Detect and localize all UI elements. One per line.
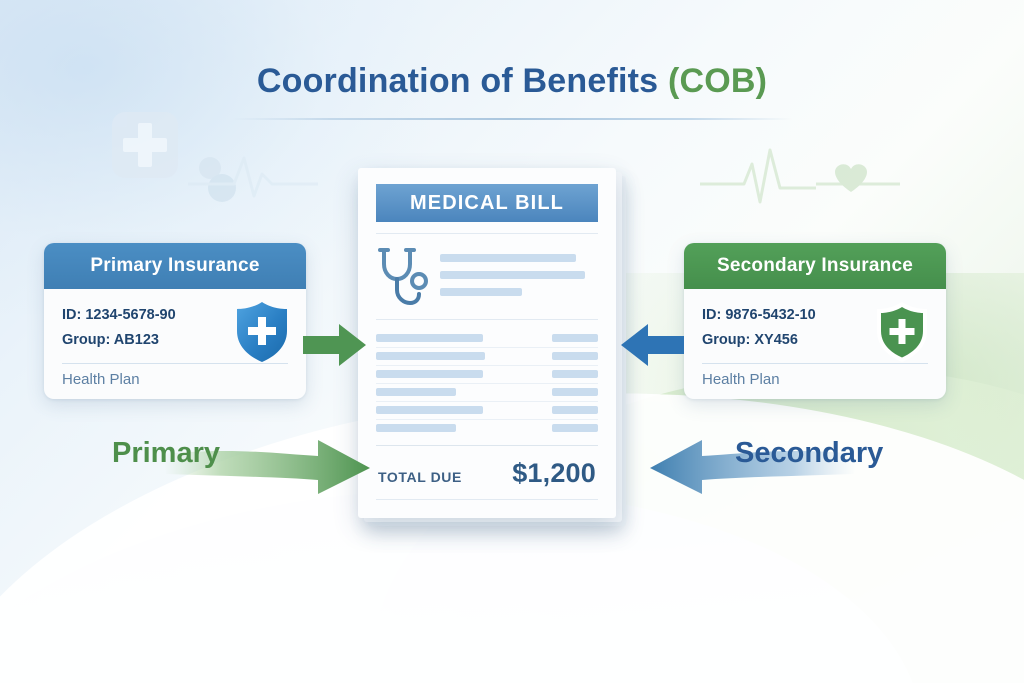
ecg-pulse-watermark xyxy=(188,140,318,210)
secondary-plan-label: Health Plan xyxy=(702,371,780,388)
primary-card-body: ID: 1234-5678-90 Group: AB123 Health Pla… xyxy=(44,289,306,399)
secondary-card-divider xyxy=(702,363,928,364)
secondary-card-header: Secondary Insurance xyxy=(684,243,946,289)
secondary-to-bill-arrow-icon xyxy=(620,322,684,368)
bill-summary-block xyxy=(376,244,598,308)
bill-row xyxy=(376,420,598,437)
total-due-label: TOTAL DUE xyxy=(378,469,462,485)
stethoscope-icon xyxy=(376,246,428,308)
title-divider xyxy=(232,118,792,120)
medical-bill-document[interactable]: MEDICAL BILL TOTA xyxy=(358,168,616,518)
infographic-canvas: Coordination of Benefits (COB) Primary I… xyxy=(0,0,1024,683)
bill-divider-bottom xyxy=(376,499,598,500)
bill-row xyxy=(376,384,598,402)
secondary-card-body: ID: 9876-5432-10 Group: XY456 Health Pla… xyxy=(684,289,946,399)
secondary-insurance-card[interactable]: Secondary Insurance ID: 9876-5432-10 Gro… xyxy=(684,243,946,399)
bill-line-items xyxy=(376,330,598,437)
primary-to-bill-arrow-icon xyxy=(303,322,367,368)
bill-divider-top xyxy=(376,233,598,234)
bill-row xyxy=(376,402,598,420)
bill-total-row: TOTAL DUE $1,200 xyxy=(376,446,598,499)
total-due-value: $1,200 xyxy=(512,458,596,489)
shield-plus-icon xyxy=(874,301,930,363)
bill-divider-mid xyxy=(376,319,598,320)
title-abbrev: (COB) xyxy=(668,62,767,100)
bill-header: MEDICAL BILL xyxy=(376,184,598,222)
primary-card-divider xyxy=(62,363,288,364)
primary-card-header: Primary Insurance xyxy=(44,243,306,289)
primary-insurance-card[interactable]: Primary Insurance ID: 1234-5678-90 Group… xyxy=(44,243,306,399)
primary-flow-label: Primary xyxy=(112,437,220,470)
primary-plan-label: Health Plan xyxy=(62,371,140,388)
bill-row xyxy=(376,330,598,348)
title-main: Coordination of Benefits xyxy=(257,62,658,100)
page-title: Coordination of Benefits (COB) xyxy=(0,62,1024,101)
medical-cross-watermark xyxy=(112,112,178,178)
ecg-pulse-heart-watermark xyxy=(700,140,900,216)
secondary-flow-label: Secondary xyxy=(735,437,883,470)
bill-row xyxy=(376,348,598,366)
shield-plus-icon xyxy=(234,301,290,363)
bill-placeholder-lines xyxy=(440,244,598,305)
bill-row xyxy=(376,366,598,384)
